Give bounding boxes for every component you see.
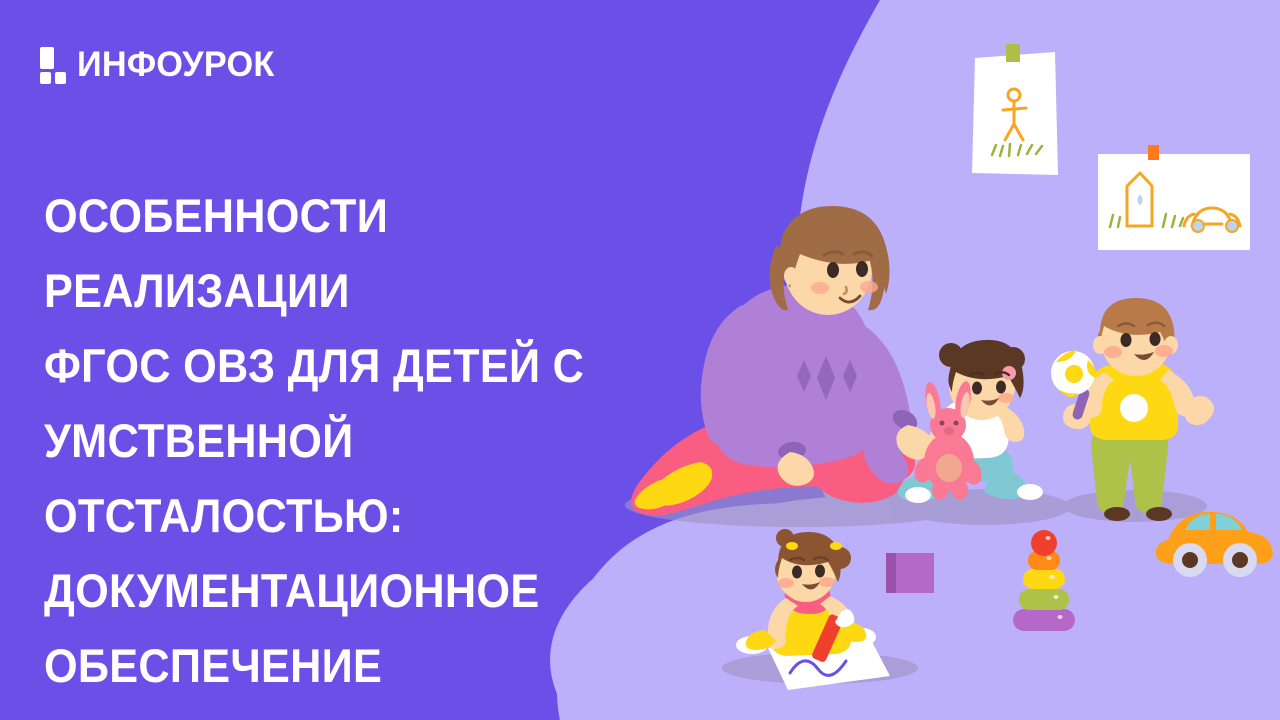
blob-upper-right-fill (797, 0, 1280, 540)
page-title: Особенности реализации ФГОС ОВЗ для дете… (44, 178, 633, 703)
blob-lower-right-fill (880, 495, 1280, 720)
brand-logo-text: ИНФОУРОК (77, 47, 274, 84)
brand-logo[interactable]: ИНФОУРОК (40, 44, 279, 86)
presentation-slide: ИНФОУРОК Особенности реализации ФГОС ОВЗ… (0, 0, 1280, 720)
infourok-blocks-mark-icon (40, 47, 66, 84)
